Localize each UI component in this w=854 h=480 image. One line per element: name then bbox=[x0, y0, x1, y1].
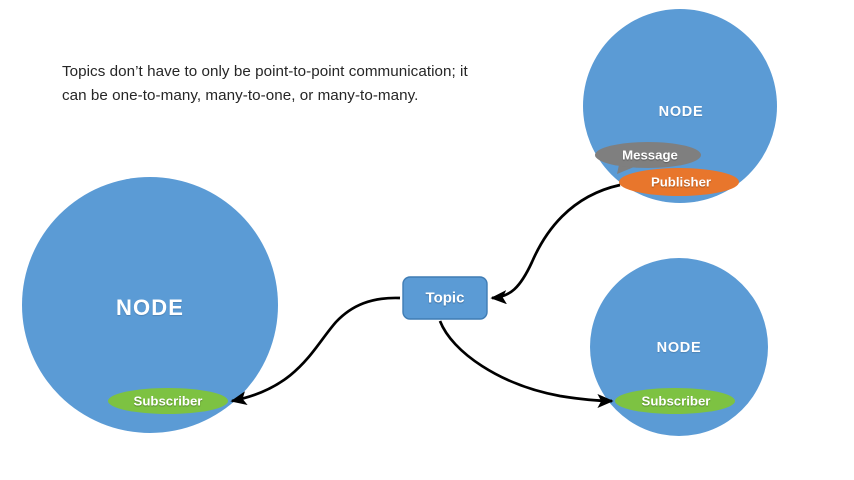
subscriber-label-left: Subscriber bbox=[134, 394, 203, 409]
diagram-canvas: Topics don’t have to only be point-to-po… bbox=[0, 0, 854, 480]
arrow-topic-to-subscriber-bottom-right bbox=[440, 321, 612, 401]
topic-label: Topic bbox=[426, 290, 465, 307]
publisher-label: Publisher bbox=[651, 175, 711, 190]
arrow-publisher-to-topic bbox=[492, 185, 620, 298]
subscriber-label-bottom-right: Subscriber bbox=[642, 394, 711, 409]
node-label-bottom-right: NODE bbox=[657, 340, 702, 356]
node-label-left: NODE bbox=[116, 295, 184, 321]
node-label-top-right: NODE bbox=[659, 104, 704, 120]
caption-text: Topics don’t have to only be point-to-po… bbox=[62, 60, 482, 107]
message-label: Message bbox=[622, 148, 678, 163]
